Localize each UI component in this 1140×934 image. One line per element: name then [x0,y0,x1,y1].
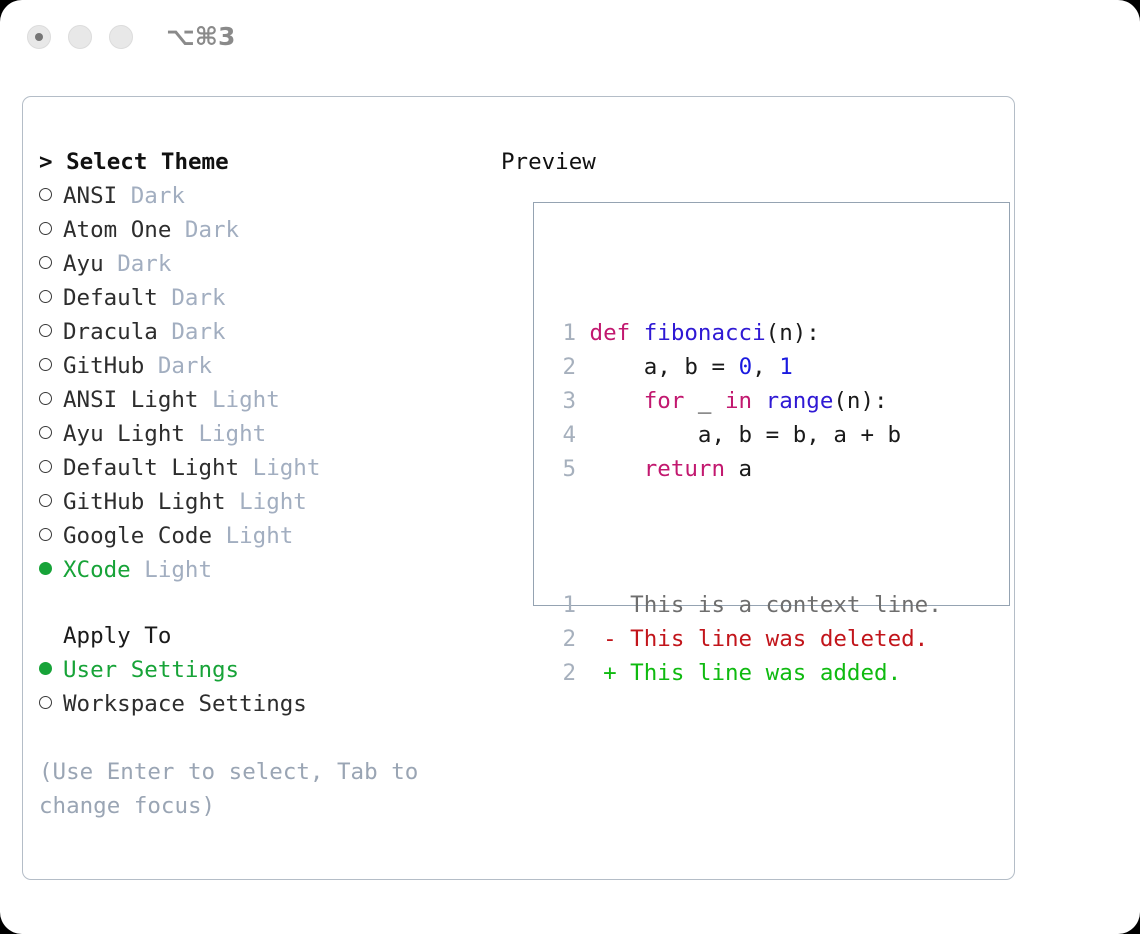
theme-option[interactable]: Ayu Light Light [39,417,469,451]
code-token: (n): [766,320,820,346]
theme-option-tag: Light [253,455,321,481]
code-token: a, b = b, a + b [590,422,902,448]
code-line: 5 return a [554,452,942,486]
preview-box: 1 def fibonacci(n):2 a, b = 0, 13 for _ … [533,202,1010,606]
radio-unselected-icon [39,417,63,451]
radio-selected-icon [39,653,63,687]
diff-line-number: 1 [554,588,576,622]
preview-column: Preview 1 def fibonacci(n):2 a, b = 0, 1… [501,145,1001,179]
theme-option[interactable]: ANSI Dark [39,179,469,213]
code-token: (n): [833,388,887,414]
diff-line-number: 2 [554,622,576,656]
theme-option-label: GitHub Light [63,489,226,515]
theme-option-tag: Dark [171,285,225,311]
theme-option-label: Google Code [63,523,212,549]
theme-option[interactable]: Default Light Light [39,451,469,485]
traffic-dot-active[interactable] [27,25,51,49]
diff-line-number: 2 [554,656,576,690]
theme-option-tag: Light [212,387,280,413]
theme-option-tag: Dark [158,353,212,379]
theme-option-tag: Dark [185,217,239,243]
apply-to-option-label: Workspace Settings [63,691,307,717]
theme-option-label: Dracula [63,319,158,345]
code-line: 3 for _ in range(n): [554,384,942,418]
theme-option-label: GitHub [63,353,144,379]
diff-line-text: This is a context line. [603,592,942,618]
radio-unselected-icon [39,315,63,349]
code-token [590,388,644,414]
code-token: a, b = [590,354,739,380]
section-spacer [39,587,469,619]
theme-option-tag: Light [144,557,212,583]
apply-to-option[interactable]: Workspace Settings [39,687,469,721]
theme-option-label: Default [63,285,158,311]
code-token: for [644,388,685,414]
app-window: ⌥⌘3 > Select Theme ANSI DarkAtom One Dar… [0,0,1140,934]
code-token: range [766,388,834,414]
theme-option[interactable]: Google Code Light [39,519,469,553]
code-token: in [725,388,752,414]
theme-picker-column: > Select Theme ANSI DarkAtom One DarkAyu… [39,145,469,823]
code-token: def [590,320,631,346]
traffic-dot-third[interactable] [109,25,133,49]
diff-line: 1 This is a context line. [554,588,942,622]
theme-option-label: Ayu Light [63,421,185,447]
theme-option[interactable]: ANSI Light Light [39,383,469,417]
preview-label: Preview [501,145,1001,179]
code-line-number: 4 [554,418,576,452]
shortcut-label: ⌥⌘3 [166,22,235,51]
radio-unselected-icon [39,519,63,553]
theme-option[interactable]: Ayu Dark [39,247,469,281]
traffic-dot-second[interactable] [68,25,92,49]
apply-to-heading: Apply To [39,619,469,653]
theme-option-label: Ayu [63,251,104,277]
code-token: 0 [739,354,753,380]
title-bar: ⌥⌘3 [0,0,1140,78]
code-lines: 1 def fibonacci(n):2 a, b = 0, 13 for _ … [554,316,942,486]
radio-unselected-icon [39,213,63,247]
radio-selected-icon [39,553,63,587]
theme-option-tag: Light [198,421,266,447]
radio-unselected-icon [39,485,63,519]
theme-option-label: XCode [63,557,131,583]
keyboard-hint: (Use Enter to select, Tab to change focu… [39,755,439,823]
code-token [590,456,644,482]
theme-option-tag: Light [226,523,294,549]
code-token: , [752,354,779,380]
traffic-dot-inner [35,33,43,41]
hint-spacer [39,721,469,755]
theme-option-label: ANSI Light [63,387,198,413]
theme-option-label: ANSI [63,183,117,209]
traffic-lights [27,25,133,49]
code-token [752,388,766,414]
diff-line: 2 - This line was deleted. [554,622,942,656]
theme-option[interactable]: GitHub Light Light [39,485,469,519]
code-token: 1 [779,354,793,380]
diff-line: 2 + This line was added. [554,656,942,690]
theme-option-tag: Dark [171,319,225,345]
apply-to-option[interactable]: User Settings [39,653,469,687]
theme-list: ANSI DarkAtom One DarkAyu DarkDefault Da… [39,179,469,587]
theme-option-tag: Light [239,489,307,515]
page-title: > Select Theme [39,145,469,179]
code-token: fibonacci [644,320,766,346]
apply-to-list: User SettingsWorkspace Settings [39,653,469,721]
theme-option-tag: Dark [131,183,185,209]
theme-option[interactable]: Atom One Dark [39,213,469,247]
code-line: 1 def fibonacci(n): [554,316,942,350]
theme-option[interactable]: XCode Light [39,553,469,587]
diff-lines: 1 This is a context line.2 - This line w… [554,588,942,690]
radio-unselected-icon [39,247,63,281]
code-token: a [725,456,752,482]
code-token: return [644,456,725,482]
radio-unselected-icon [39,349,63,383]
diff-line-text: - This line was deleted. [603,626,928,652]
code-line-number: 1 [554,316,576,350]
code-line-number: 5 [554,452,576,486]
code-token [630,320,644,346]
diff-line-text: + This line was added. [603,660,901,686]
code-line: 4 a, b = b, a + b [554,418,942,452]
theme-option[interactable]: GitHub Dark [39,349,469,383]
code-line-number: 2 [554,350,576,384]
theme-option[interactable]: Default Dark [39,281,469,315]
main-panel: > Select Theme ANSI DarkAtom One DarkAyu… [22,96,1015,880]
radio-unselected-icon [39,687,63,721]
theme-option[interactable]: Dracula Dark [39,315,469,349]
code-line: 2 a, b = 0, 1 [554,350,942,384]
radio-unselected-icon [39,451,63,485]
code-line-number: 3 [554,384,576,418]
theme-option-tag: Dark [117,251,171,277]
theme-option-label: Atom One [63,217,171,243]
radio-unselected-icon [39,281,63,315]
code-sample: 1 def fibonacci(n):2 a, b = 0, 13 for _ … [554,248,942,758]
radio-unselected-icon [39,179,63,213]
theme-option-label: Default Light [63,455,239,481]
apply-to-option-label: User Settings [63,657,239,683]
code-token: _ [684,388,725,414]
radio-unselected-icon [39,383,63,417]
